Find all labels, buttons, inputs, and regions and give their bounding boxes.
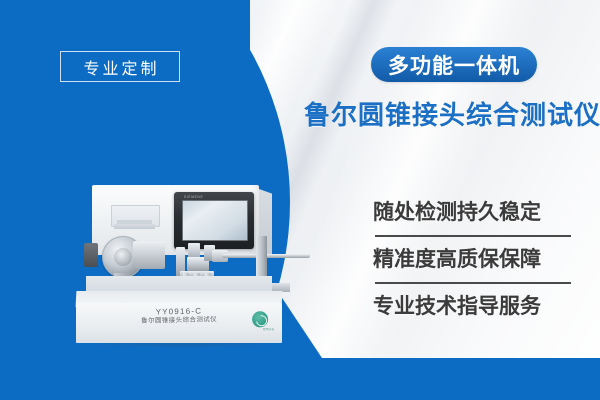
dial-clamp-arm: [84, 243, 98, 267]
feature-item: 精准度高质保保障: [373, 243, 573, 290]
product-poster: 专业定制 多功能一体机 鲁尔圆锥接头综合测试仪 随处检测持久稳定 精准度高质保保…: [0, 0, 600, 400]
page-title: 鲁尔圆锥接头综合测试仪: [304, 95, 600, 132]
feature-label: 专业技术指导服务: [373, 290, 573, 324]
hmi-screen-surface[interactable]: [182, 200, 248, 241]
dial-drum-housing: [133, 241, 165, 269]
machine-plate-foot: [114, 224, 155, 229]
rotary-dial-hub: [114, 248, 132, 266]
product-machine: SIEMENS: [70, 181, 310, 376]
custom-service-badge: 专业定制: [60, 51, 180, 82]
feature-divider: [375, 282, 571, 284]
hmi-brand-label: SIEMENS: [184, 195, 203, 199]
feature-item: 随处检测持久稳定: [373, 196, 573, 243]
hmi-touchscreen[interactable]: SIEMENS: [174, 192, 254, 249]
certification-logo-caption: 检测认证: [263, 328, 274, 331]
feature-divider: [375, 235, 571, 237]
feature-label: 精准度高质保保障: [373, 243, 573, 277]
multifunction-pill-badge: 多功能一体机: [371, 47, 537, 82]
feature-label: 随处检测持久稳定: [373, 196, 573, 230]
feature-item: 专业技术指导服务: [373, 290, 573, 337]
feature-list: 随处检测持久稳定 精准度高质保保障 专业技术指导服务: [373, 196, 573, 337]
